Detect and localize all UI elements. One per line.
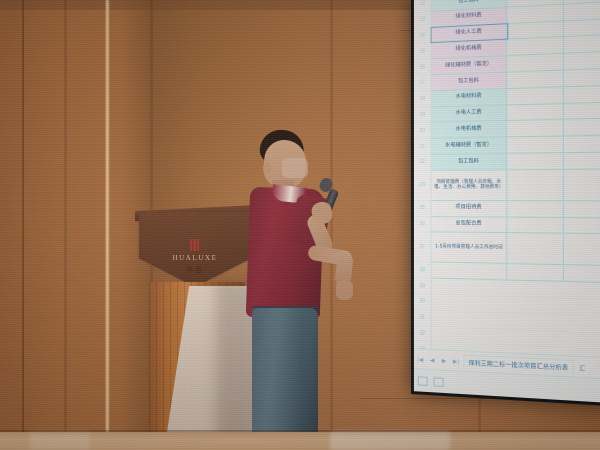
row-number[interactable]: 26 — [414, 217, 431, 233]
cell-value[interactable] — [507, 21, 564, 39]
cell-value[interactable] — [564, 266, 600, 283]
cell-value[interactable] — [507, 4, 564, 22]
cell-value[interactable] — [507, 71, 564, 88]
cell-value[interactable] — [564, 35, 600, 53]
row-number[interactable]: 20 — [414, 123, 431, 139]
row-number[interactable]: 17 — [414, 75, 431, 91]
cell-item-label[interactable]: 水电机械费 — [432, 121, 508, 138]
cell-value[interactable] — [564, 19, 600, 37]
row-header-column[interactable]: 12 13 14 15 16 17 18 19 20 21 22 23 25 2… — [414, 0, 432, 350]
cell-value[interactable] — [564, 102, 600, 119]
row-number[interactable]: 27 — [414, 232, 431, 262]
last-sheet-icon[interactable]: ▶| — [451, 357, 460, 365]
extended-hand — [336, 280, 353, 300]
row-number[interactable]: 13 — [414, 12, 431, 29]
cell-item-label[interactable]: 1-5月份项目管理人员工作总时间 — [432, 233, 508, 264]
cell-value[interactable] — [507, 104, 564, 121]
cell-item-label[interactable]: 包工包料 — [432, 154, 508, 170]
cell-value[interactable] — [564, 234, 600, 265]
cell-value[interactable] — [564, 169, 600, 200]
cell-value[interactable] — [507, 233, 564, 264]
sheet-tab-next[interactable]: 汇 — [577, 360, 588, 374]
floor-reflection — [30, 432, 90, 450]
speaker-person — [236, 130, 366, 450]
cell-value[interactable] — [564, 86, 600, 103]
spreadsheet-grid-area: 12 13 14 15 16 17 18 19 20 21 22 23 25 2… — [414, 0, 600, 358]
row-number[interactable]: 15 — [414, 43, 431, 60]
cell-item-label[interactable]: 水电辅材费（暂定） — [432, 138, 508, 154]
row-number[interactable]: 12 — [414, 0, 431, 13]
podium-brand-text: HUALUXE — [139, 254, 251, 262]
table-row[interactable]: 1-5月份项目管理人员工作总时间 — [432, 233, 600, 267]
cell-value[interactable] — [507, 217, 564, 233]
cell-value[interactable] — [564, 136, 600, 152]
cell-value[interactable] — [507, 201, 564, 217]
screenshot-root: 12 13 14 15 16 17 18 19 20 21 22 23 25 2… — [0, 0, 600, 450]
table-row[interactable]: 项目管理费（管理人员房租、水电、生活、办公费用、其他费等） — [432, 169, 600, 201]
cell-value[interactable] — [564, 153, 600, 169]
spreadsheet-cells[interactable]: 包工包料 绿化材料费 绿化人工费 绿化机 — [432, 0, 600, 358]
cell-value[interactable] — [564, 69, 600, 86]
wall-seam — [64, 0, 67, 450]
wall-light-strip — [105, 0, 110, 450]
face-mask — [282, 158, 308, 178]
cell-item-label[interactable]: 绿化辅材费（暂定） — [432, 56, 508, 74]
row-number[interactable]: 22 — [414, 155, 431, 171]
next-sheet-icon[interactable]: ▶ — [440, 357, 449, 365]
table-row[interactable]: 项目招待费 — [432, 201, 600, 218]
row-number[interactable]: 16 — [414, 59, 431, 75]
row-number[interactable]: 19 — [414, 107, 431, 123]
table-row[interactable]: 包工包料 — [432, 153, 600, 171]
row-number[interactable]: 32 — [414, 326, 431, 343]
cell-value[interactable] — [507, 170, 564, 200]
first-sheet-icon[interactable]: |◀ — [416, 356, 425, 363]
cell-item-label[interactable] — [432, 263, 508, 280]
cell-item-label[interactable]: 水电材料费 — [432, 89, 508, 106]
cell-value[interactable] — [507, 264, 564, 281]
cell-value[interactable] — [507, 54, 564, 72]
cell-item-label[interactable]: 绿化机械费 — [432, 40, 508, 58]
floor-reflection — [330, 432, 450, 450]
wall-seam — [22, 0, 24, 450]
row-number[interactable]: 23 — [414, 171, 431, 201]
cell-value[interactable] — [564, 201, 600, 217]
spreadsheet-app: 12 13 14 15 16 17 18 19 20 21 22 23 25 2… — [414, 0, 600, 403]
wall-seam — [478, 398, 481, 432]
cell-item-label[interactable]: 包工包料 — [432, 73, 508, 91]
cell-value[interactable] — [564, 218, 600, 234]
row-number[interactable]: 21 — [414, 139, 431, 155]
cell-item-label[interactable]: 项目管理费（管理人员房租、水电、生活、办公费用、其他费等） — [432, 170, 508, 200]
row-number[interactable]: 31 — [414, 310, 431, 326]
floor — [0, 432, 600, 450]
hualuxe-logo-mark — [190, 239, 200, 251]
row-number[interactable]: 28 — [414, 262, 431, 278]
projection-screen: 12 13 14 15 16 17 18 19 20 21 22 23 25 2… — [411, 0, 600, 406]
ear — [263, 162, 271, 174]
cell-value[interactable] — [564, 2, 600, 20]
cell-item-label[interactable]: 总包配合费 — [432, 217, 508, 233]
cell-value[interactable] — [507, 137, 564, 153]
row-number[interactable]: 30 — [414, 294, 431, 310]
cell-value[interactable] — [507, 37, 564, 55]
cell-item-label[interactable]: 项目招待费 — [432, 201, 508, 216]
jeans-trousers — [252, 308, 318, 450]
cell-value[interactable] — [564, 119, 600, 135]
row-number[interactable]: 25 — [414, 201, 431, 217]
prev-sheet-icon[interactable]: ◀ — [428, 356, 437, 363]
view-layout-icon[interactable] — [434, 377, 444, 387]
cell-value[interactable] — [507, 120, 564, 136]
cell-value[interactable] — [564, 52, 600, 69]
row-number[interactable]: 14 — [414, 28, 431, 45]
cell-item-label[interactable]: 水电人工费 — [432, 105, 508, 122]
podium-front-panel: HUALUXE 华邑 — [139, 212, 251, 287]
cell-value[interactable] — [507, 87, 564, 104]
view-normal-icon[interactable] — [418, 376, 428, 386]
podium-brand-cn: 华邑 — [139, 265, 251, 275]
cell-value[interactable] — [507, 153, 564, 169]
row-number[interactable]: 29 — [414, 278, 431, 294]
row-number[interactable]: 18 — [414, 91, 431, 107]
table-row[interactable]: 水电辅材费（暂定） — [432, 136, 600, 155]
